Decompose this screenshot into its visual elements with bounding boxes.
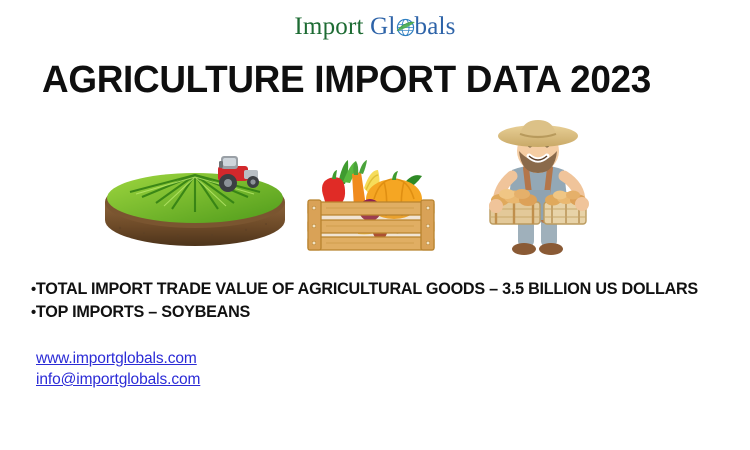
slide-canvas: Import Gl bals AGRICULTURE IMPORT DATA 2… xyxy=(0,0,750,450)
key-facts-list: •TOTAL IMPORT TRADE VALUE OF AGRICULTURA… xyxy=(31,278,731,324)
farmer-with-baskets-illustration xyxy=(460,118,615,258)
vegetable-crate-illustration xyxy=(302,144,440,252)
farm-field-tractor-illustration xyxy=(100,140,290,252)
email-link[interactable]: info@importglobals.com xyxy=(36,369,200,390)
illustration-band xyxy=(0,118,750,260)
website-link[interactable]: www.importglobals.com xyxy=(36,348,200,369)
list-item: •TOTAL IMPORT TRADE VALUE OF AGRICULTURA… xyxy=(31,278,717,301)
globe-icon xyxy=(396,17,415,36)
brand-logo-text: Import Gl bals xyxy=(294,14,455,39)
brand-logo-gl-fragment: Gl xyxy=(370,13,395,40)
page-title: AGRICULTURE IMPORT DATA 2023 xyxy=(42,58,688,102)
brand-logo-bals-fragment: bals xyxy=(415,13,456,40)
brand-logo-import-word: Import xyxy=(294,13,363,40)
list-item-label: TOP IMPORTS – SOYBEANS xyxy=(36,303,250,321)
brand-logo[interactable]: Import Gl bals xyxy=(0,14,750,39)
list-item-label: TOTAL IMPORT TRADE VALUE OF AGRICULTURAL… xyxy=(36,280,698,298)
list-item: •TOP IMPORTS – SOYBEANS xyxy=(31,301,717,324)
contact-block: www.importglobals.com info@importglobals… xyxy=(36,348,200,390)
